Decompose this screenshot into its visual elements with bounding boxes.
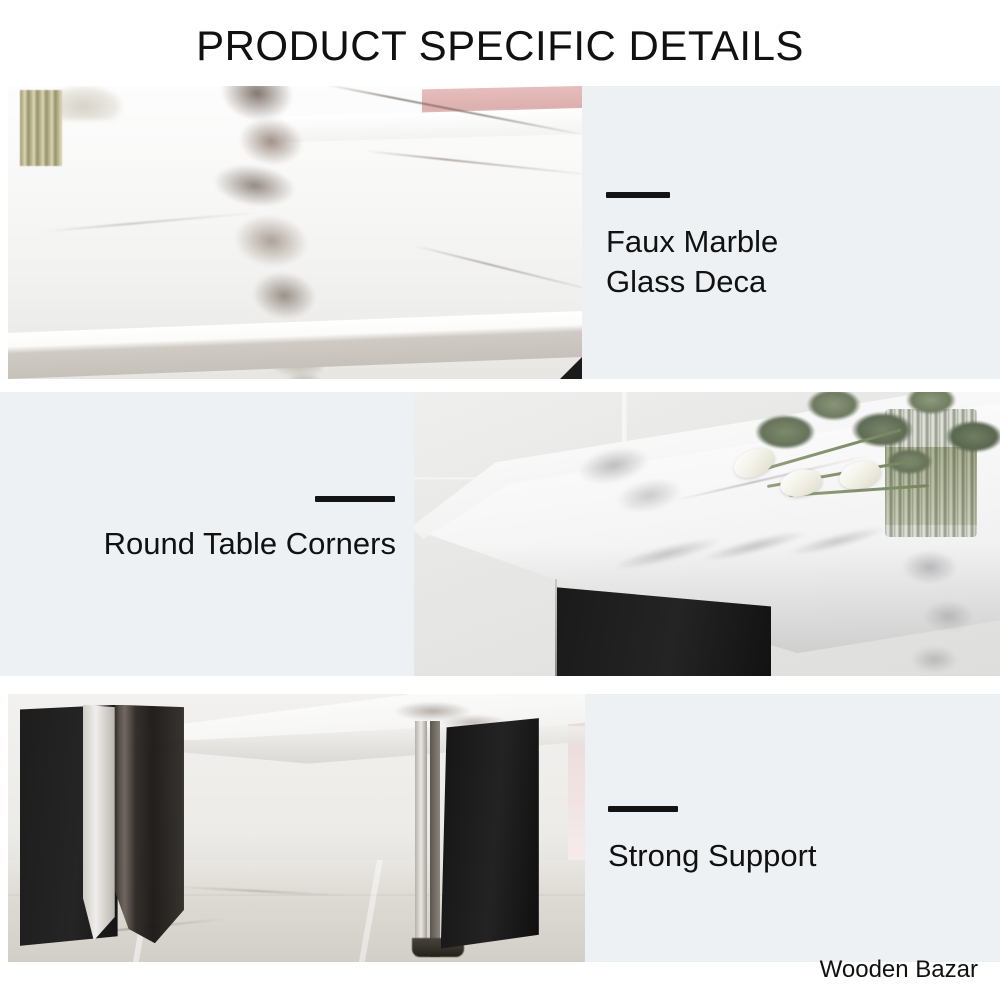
black-pedestal-leg-right xyxy=(441,718,539,948)
feature-photo-faux-marble xyxy=(8,86,582,379)
blurred-foliage xyxy=(58,86,122,120)
chrome-accent-strip xyxy=(555,579,557,676)
dash-icon-1 xyxy=(606,192,670,198)
chrome-accent-strip xyxy=(430,721,439,957)
watermark: Wooden Bazar xyxy=(820,956,978,984)
feature-caption-round-corners: Round Table Corners xyxy=(0,524,396,564)
feature-caption-strong-support: Strong Support xyxy=(608,836,988,876)
page-title: PRODUCT SPECIFIC DETAILS xyxy=(0,22,1000,70)
feature-photo-strong-support xyxy=(8,694,585,962)
feature-photo-round-corners xyxy=(414,392,1000,676)
product-details-page: PRODUCT SPECIFIC DETAILS Faux Marble Gla… xyxy=(0,0,1000,1000)
dash-icon-3 xyxy=(608,806,678,812)
chrome-accent-strip xyxy=(415,721,428,957)
chrome-accent-strip xyxy=(83,705,115,941)
fluted-vase xyxy=(20,90,62,166)
corner-marker xyxy=(560,357,582,379)
dash-icon-2 xyxy=(315,496,395,502)
curved-leg-support xyxy=(115,705,184,944)
feature-caption-faux-marble: Faux Marble Glass Deca xyxy=(606,222,986,302)
caption-pane-3 xyxy=(585,694,1000,962)
